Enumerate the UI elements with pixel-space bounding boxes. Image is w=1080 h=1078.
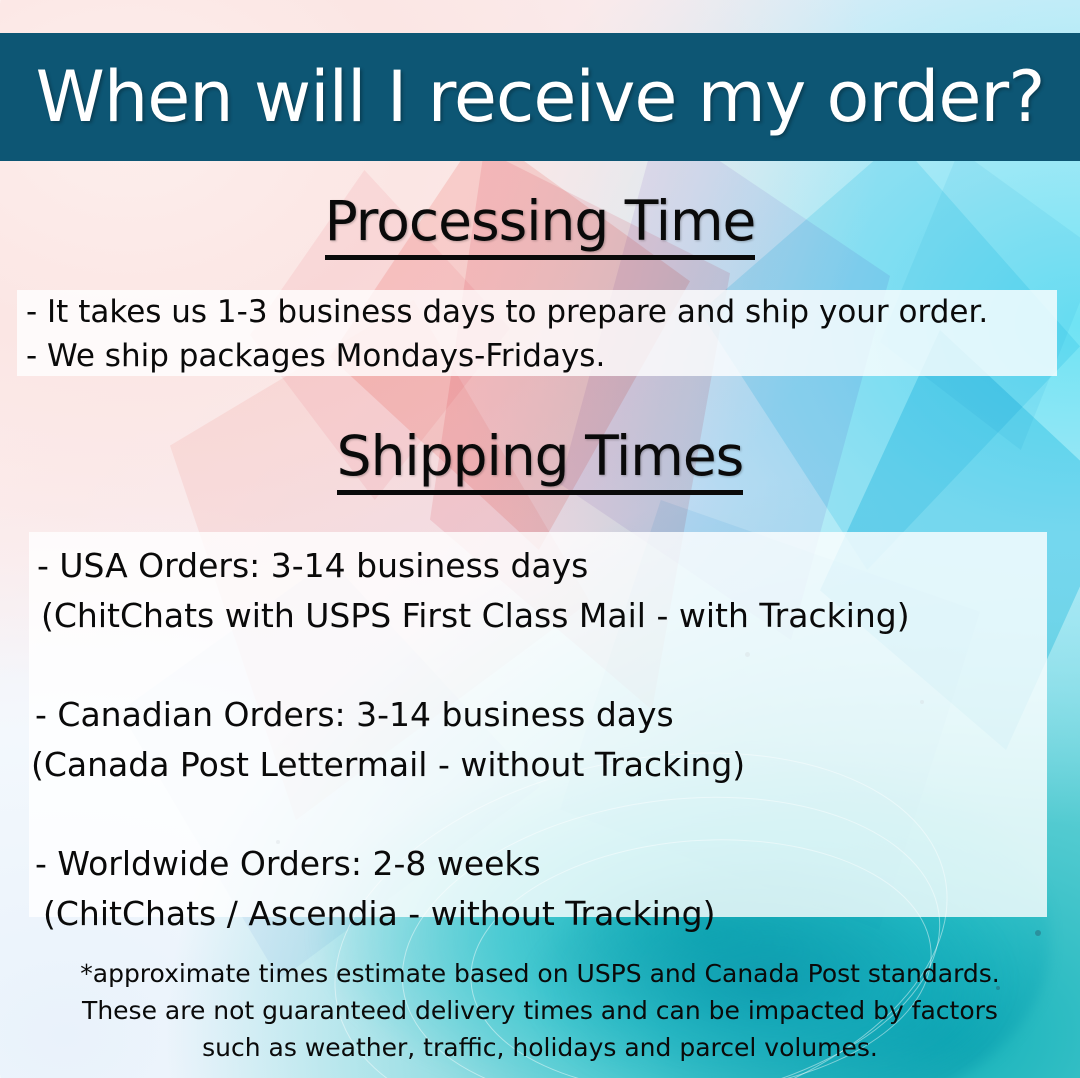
section-heading-shipping-label: Shipping Times [337,429,744,495]
shipping-line-usa: - USA Orders: 3-14 business days [29,541,1047,591]
shipping-line-canada-carrier: (Canada Post Lettermail - without Tracki… [29,740,1047,790]
footnote-line: These are not guaranteed delivery times … [0,992,1080,1029]
footnote-disclaimer: *approximate times estimate based on USP… [0,955,1080,1066]
shipping-line-usa-carrier: (ChitChats with USPS First Class Mail - … [29,591,1047,641]
shipping-line-worldwide-carrier: (ChitChats / Ascendia - without Tracking… [29,889,1047,939]
section-heading-processing-label: Processing Time [325,194,756,260]
infographic-page: When will I receive my order? Processing… [0,0,1080,1078]
footnote-line: *approximate times estimate based on USP… [0,955,1080,992]
section-heading-processing: Processing Time [0,194,1080,260]
footnote-line: such as weather, traffic, holidays and p… [0,1029,1080,1066]
page-title: When will I receive my order? [36,62,1045,132]
header-banner: When will I receive my order? [0,33,1080,161]
content-layer: When will I receive my order? Processing… [0,0,1080,1078]
processing-line: - It takes us 1-3 business days to prepa… [17,290,1057,334]
section-heading-shipping: Shipping Times [0,429,1080,495]
shipping-line-canada: - Canadian Orders: 3-14 business days [29,690,1047,740]
processing-time-panel: - It takes us 1-3 business days to prepa… [17,290,1057,376]
processing-line: - We ship packages Mondays-Fridays. [17,334,1057,378]
shipping-line-worldwide: - Worldwide Orders: 2-8 weeks [29,839,1047,889]
shipping-times-panel: - USA Orders: 3-14 business days (ChitCh… [29,532,1047,917]
